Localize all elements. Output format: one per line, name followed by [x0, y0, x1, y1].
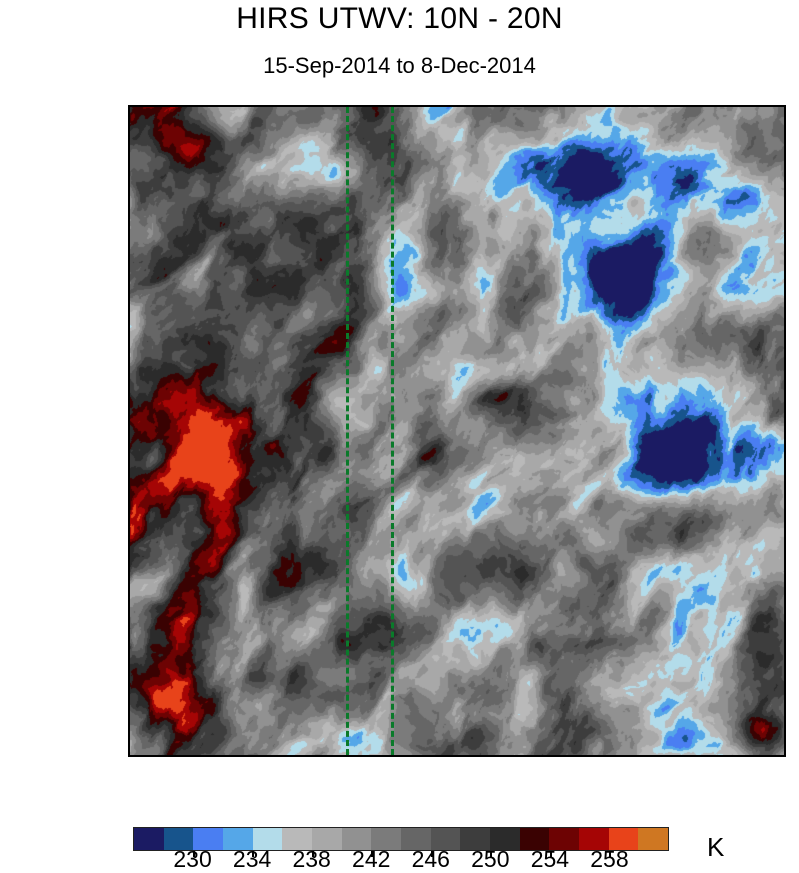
- annotation-vertical-dashed-line: [346, 107, 349, 755]
- page-title: HIRS UTWV: 10N - 20N: [0, 2, 799, 36]
- x-axis-tick-major: [586, 755, 589, 757]
- x-axis-tick-minor: [635, 755, 638, 757]
- x-axis-tick-minor: [340, 755, 343, 757]
- plot-overlay: 15-Sep6-Oct27-Oct17-Nov8-Dec30E60E90E120…: [130, 107, 784, 755]
- colorbar-unit-label: K: [707, 832, 724, 863]
- x-axis-tick-major: [438, 755, 441, 757]
- x-axis-tick-major: [143, 755, 146, 757]
- y-axis-tick-minor: [128, 322, 130, 325]
- y-axis-tick-minor: [128, 484, 130, 487]
- y-axis-tick-major: [128, 430, 130, 433]
- x-axis-tick-minor: [537, 755, 540, 757]
- colorbar-tick-labels: 230234238242246250254258: [133, 846, 669, 872]
- y-axis-tick-minor: [128, 160, 130, 163]
- x-axis-tick-major: [733, 755, 736, 757]
- y-axis-tick-minor: [128, 538, 130, 541]
- hovmoller-plot-area: 15-Sep6-Oct27-Oct17-Nov8-Dec30E60E90E120…: [128, 105, 786, 757]
- y-axis-tick-minor: [128, 700, 130, 703]
- y-axis-tick-minor: [128, 376, 130, 379]
- y-axis-tick-major: [128, 106, 130, 109]
- figure-subtitle: 15-Sep-2014 to 8-Dec-2014: [0, 53, 799, 79]
- y-axis-tick-minor: [128, 646, 130, 649]
- x-axis-tick-minor: [389, 755, 392, 757]
- y-axis-tick-major: [128, 268, 130, 271]
- y-axis-tick-major: [128, 754, 130, 757]
- x-axis-tick-major: [291, 755, 294, 757]
- figure-root: HIRS UTWV: 10N - 20N 15-Sep-2014 to 8-De…: [0, 0, 799, 869]
- x-axis-tick-minor: [487, 755, 490, 757]
- y-axis-tick-minor: [128, 214, 130, 217]
- y-axis-tick-major: [128, 592, 130, 595]
- x-axis-tick-minor: [684, 755, 687, 757]
- x-axis-tick-minor: [192, 755, 195, 757]
- annotation-vertical-dashed-line: [391, 107, 394, 755]
- x-axis-tick-minor: [242, 755, 245, 757]
